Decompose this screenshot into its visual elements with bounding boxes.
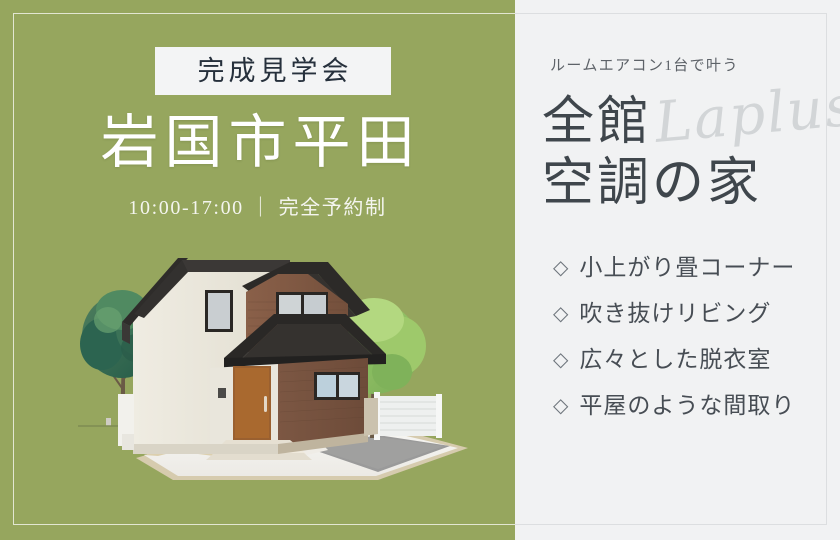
house-exterior-illustration	[78, 248, 478, 480]
right-info-panel: ルームエアコン1台で叶う Laplus 全館 空調の家 ◇ 小上がり畳コーナー …	[515, 0, 840, 540]
diamond-bullet-icon: ◇	[553, 258, 569, 278]
feature-label: 小上がり畳コーナー	[579, 256, 795, 279]
event-location-heading: 岩国市平田	[0, 112, 515, 175]
feature-list-item: ◇ 広々とした脱衣室	[553, 348, 795, 371]
panel-title-line-2: 空調の家	[542, 153, 762, 214]
feature-list-item: ◇ 吹き抜けリビング	[553, 302, 795, 325]
panel-main-title: 全館 空調の家	[542, 92, 762, 215]
event-type-badge-label: 完成見学会	[194, 58, 353, 85]
feature-label: 平屋のような間取り	[579, 394, 795, 417]
feature-list-item: ◇ 小上がり畳コーナー	[553, 256, 795, 279]
feature-list: ◇ 小上がり畳コーナー ◇ 吹き抜けリビング ◇ 広々とした脱衣室 ◇ 平屋のよ…	[553, 256, 795, 440]
diamond-bullet-icon: ◇	[553, 396, 569, 416]
panel-eyebrow-text: ルームエアコン1台で叶う	[550, 59, 739, 74]
diamond-bullet-icon: ◇	[553, 350, 569, 370]
feature-list-item: ◇ 平屋のような間取り	[553, 394, 795, 417]
event-location-text: 岩国市平田	[0, 112, 515, 175]
feature-label: 吹き抜けリビング	[579, 302, 771, 325]
feature-label: 広々とした脱衣室	[579, 348, 771, 371]
panel-title-line-1: 全館	[542, 92, 762, 153]
poster-canvas: 完成見学会 岩国市平田 10:00-17:00 ｜ 完全予約制 ルームエアコン1…	[0, 0, 840, 540]
event-time-text: 10:00-17:00 ｜ 完全予約制	[0, 198, 515, 218]
diamond-bullet-icon: ◇	[553, 304, 569, 324]
event-time-line: 10:00-17:00 ｜ 完全予約制	[0, 198, 515, 218]
event-type-badge: 完成見学会	[155, 47, 391, 95]
